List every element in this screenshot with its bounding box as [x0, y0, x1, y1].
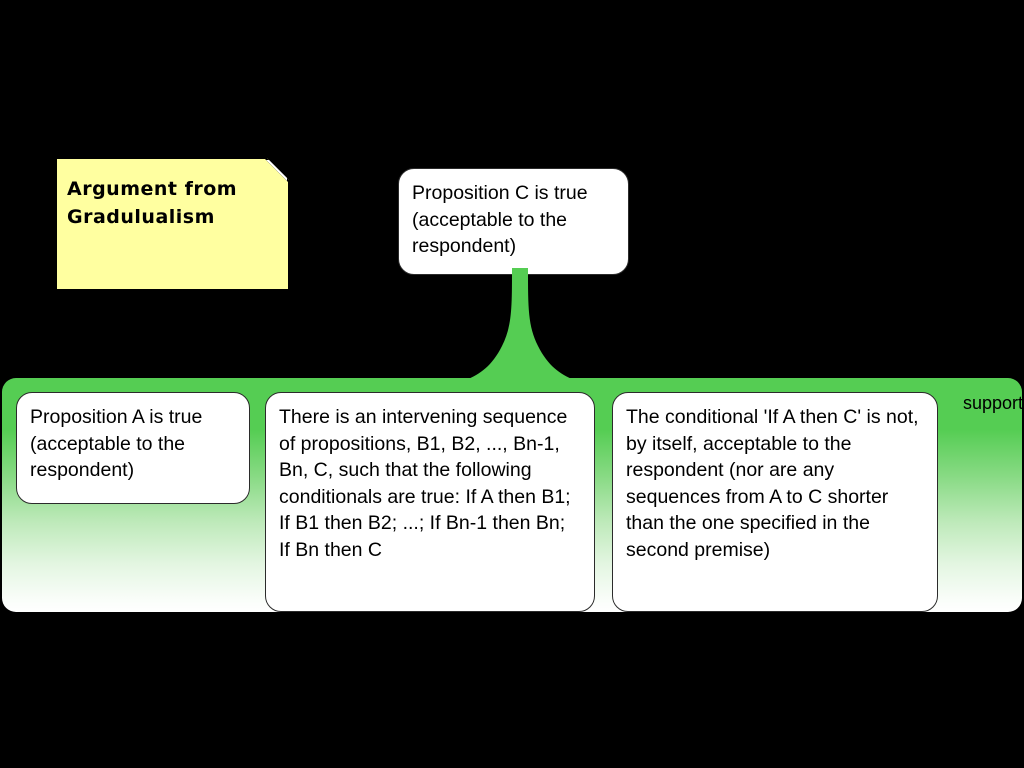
- argument-title-label: Argument from Gradulualism: [67, 175, 267, 231]
- premise-box-2[interactable]: There is an intervening sequence of prop…: [265, 392, 595, 612]
- support-label: support: [963, 393, 1023, 413]
- premise-box-1[interactable]: Proposition A is true (acceptable to the…: [16, 392, 250, 504]
- note-fold-corner-inner-icon: [266, 160, 287, 181]
- support-connector-icon: [466, 268, 574, 384]
- conclusion-box[interactable]: Proposition C is true (acceptable to the…: [398, 168, 629, 275]
- premise-3-text: The conditional 'If A then C' is not, by…: [626, 406, 919, 561]
- argument-title-note[interactable]: Argument from Gradulualism: [56, 158, 289, 290]
- conclusion-text: Proposition C is true (acceptable to the…: [412, 182, 588, 257]
- note-fold-corner-icon: [265, 159, 288, 182]
- premise-2-text: There is an intervening sequence of prop…: [279, 406, 571, 561]
- premise-1-text: Proposition A is true (acceptable to the…: [30, 406, 202, 481]
- premise-box-3[interactable]: The conditional 'If A then C' is not, by…: [612, 392, 938, 612]
- diagram-canvas: Argument from Gradulualism Proposition C…: [0, 0, 1024, 768]
